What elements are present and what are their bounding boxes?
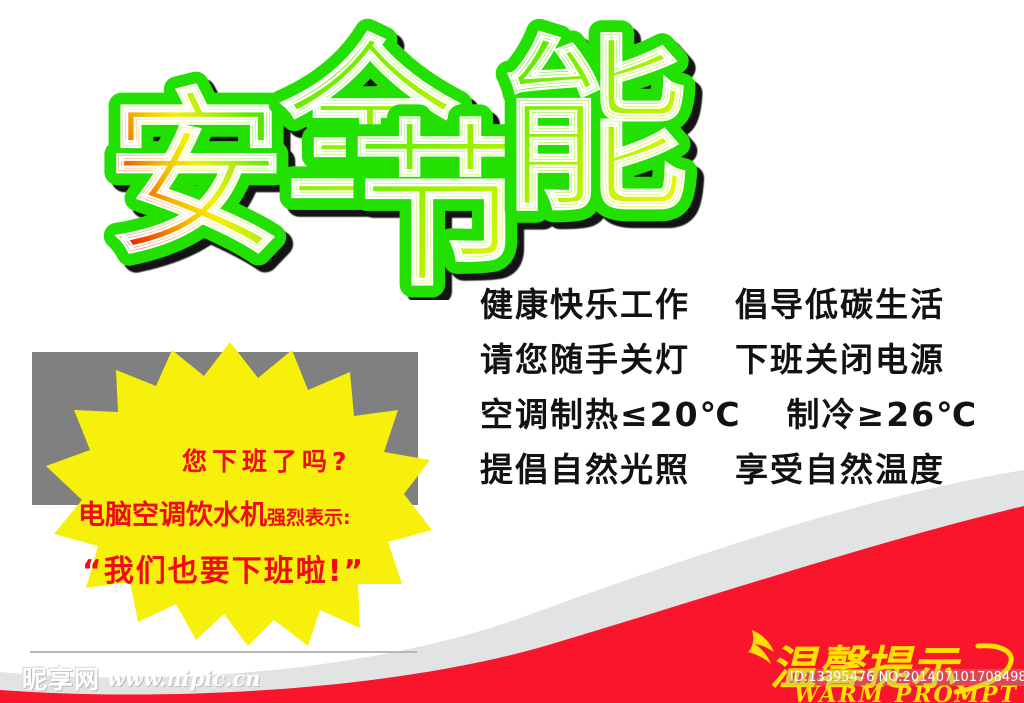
horizontal-divider (30, 651, 417, 653)
nipic-site-url: www.nipic.cn (107, 666, 261, 691)
slogan-left-2: 请您随手关灯 (480, 340, 690, 379)
title-artwork: 安 安 安 全 全 全 节 节 节 能 能 能 (0, 0, 760, 300)
slogan-left-4: 提倡自然光照 (480, 450, 690, 489)
slogan-row-4: 提倡自然光照 享受自然温度 (480, 453, 980, 486)
slogan-list: 健康快乐工作 倡导低碳生活 请您随手关灯 下班关闭电源 空调制热≤20℃ 制冷≥… (480, 288, 980, 508)
id-watermark: ID:13395476 NO:20140710170849835622 (786, 669, 1024, 686)
slogan-row-2: 请您随手关灯 下班关闭电源 (480, 343, 980, 376)
slogan-row-1: 健康快乐工作 倡导低碳生活 (480, 288, 980, 321)
slogan-right-4: 享受自然温度 (735, 450, 945, 489)
badge-middle-small: 强烈表示: (267, 507, 351, 529)
slogan-row-3: 空调制热≤20℃ 制冷≥26℃ (480, 398, 980, 431)
badge-middle-big: 电脑空调饮水机 (78, 500, 267, 531)
badge-middle-line: 电脑空调饮水机强烈表示: (78, 493, 351, 532)
badge-quote: “我们也要下班啦!” (82, 546, 365, 590)
nipic-watermark: 昵享网 www.nipic.cn (22, 661, 261, 695)
badge-question: 您下班了吗? (182, 442, 352, 478)
svg-text:安: 安 (108, 73, 284, 278)
badge-text-group: 您下班了吗? 电脑空调饮水机强烈表示: “我们也要下班啦!” (20, 338, 440, 650)
slogan-left-3: 空调制热≤20℃ (480, 395, 742, 434)
poster-canvas: 安 安 安 全 全 全 节 节 节 能 能 能 健康快乐工作 倡导低碳生 (0, 0, 1024, 703)
poster-title: 安 安 安 全 全 全 节 节 节 能 能 能 (0, 0, 760, 300)
slogan-right-3: 制冷≥26℃ (787, 395, 979, 434)
nipic-site-name: 昵享网 (22, 660, 100, 696)
slogan-left-1: 健康快乐工作 (480, 285, 690, 324)
slogan-right-1: 倡导低碳生活 (735, 285, 945, 324)
starburst-badge: lenovo 联想 您下班了吗? 电脑空调饮水机强烈表示: “我们也要下班啦!” (20, 338, 440, 650)
svg-text:能: 能 (502, 19, 688, 236)
warm-prompt-logo: 温馨提示 WARM PROMPT (742, 628, 1024, 703)
slogan-right-2: 下班关闭电源 (735, 340, 945, 379)
